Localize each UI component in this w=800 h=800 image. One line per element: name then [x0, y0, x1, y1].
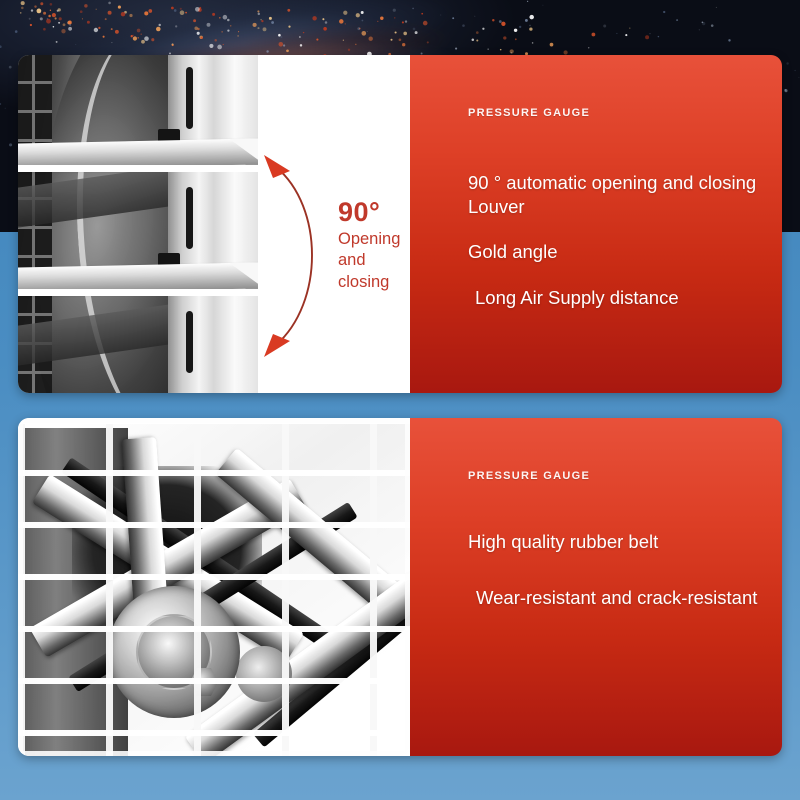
- panel-kicker-label: PRESSURE GAUGE: [468, 470, 782, 482]
- product-feature-page: 90° Opening and closing PRESSURE GAUGE 9…: [0, 0, 800, 800]
- feature-line-wear-resistant: Wear-resistant and crack-resistant: [468, 586, 768, 610]
- louver-blade-edge-upper: [18, 165, 258, 172]
- angle-word-and: and: [338, 251, 400, 270]
- louver-blade-edge-lower: [18, 289, 258, 296]
- frame-slot-3: [186, 311, 193, 373]
- fan-belt-grille-photo: [18, 418, 410, 756]
- louver-card-media: 90° Opening and closing: [18, 55, 410, 393]
- frame-slot-1: [186, 67, 193, 129]
- feature-line-louver: 90 ° automatic opening and closing Louve…: [468, 171, 768, 218]
- grille-frame: [18, 418, 410, 756]
- belt-card-panel: PRESSURE GAUGE High quality rubber belt …: [410, 418, 782, 756]
- panel-kicker-label: PRESSURE GAUGE: [468, 107, 782, 119]
- angle-word-opening: Opening: [338, 230, 400, 249]
- belt-card: PRESSURE GAUGE High quality rubber belt …: [18, 418, 782, 756]
- feature-line-gold-angle: Gold angle: [468, 240, 768, 264]
- angle-word-closing: closing: [338, 273, 400, 292]
- angle-annotation: 90° Opening and closing: [246, 141, 410, 371]
- belt-card-media: [18, 418, 410, 756]
- louver-card-panel: PRESSURE GAUGE 90 ° automatic opening an…: [410, 55, 782, 393]
- louver-card: 90° Opening and closing PRESSURE GAUGE 9…: [18, 55, 782, 393]
- louver-blades-photo: [18, 55, 258, 393]
- frame-slot-2: [186, 187, 193, 249]
- angle-degree-label: 90°: [338, 197, 400, 228]
- feature-line-rubber-belt: High quality rubber belt: [468, 530, 768, 554]
- feature-line-air-supply: Long Air Supply distance: [468, 286, 768, 310]
- angle-annotation-text: 90° Opening and closing: [338, 197, 400, 292]
